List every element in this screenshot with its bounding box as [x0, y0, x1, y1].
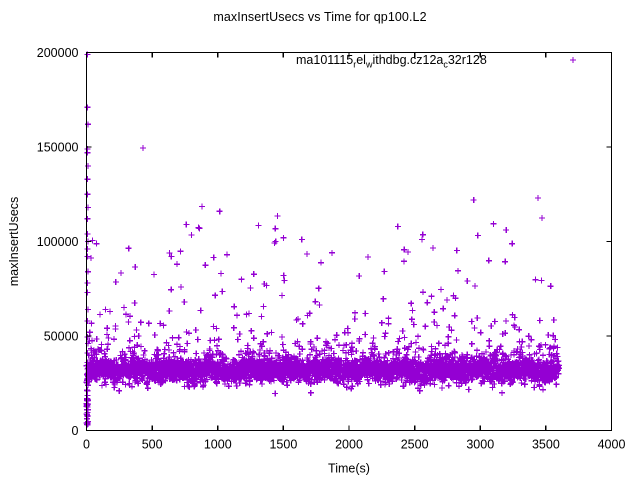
data-point [528, 337, 534, 343]
data-point [116, 388, 122, 394]
data-point [132, 264, 138, 270]
data-point [217, 208, 223, 214]
data-point [400, 328, 406, 334]
x-tick-label: 4000 [598, 438, 626, 452]
data-point [415, 333, 421, 339]
data-point [538, 277, 544, 283]
data-point [274, 213, 280, 219]
data-point [216, 336, 222, 342]
data-point [195, 225, 201, 231]
legend: ma101115relwithdbg.cz12ac32r128 [296, 53, 576, 70]
data-point [234, 383, 240, 389]
data-point [537, 318, 543, 324]
data-point [532, 277, 538, 283]
data-point [492, 319, 498, 325]
data-point [84, 290, 90, 296]
data-point [238, 276, 244, 282]
data-point [385, 315, 391, 321]
x-tick-label: 0 [83, 438, 90, 452]
data-point [272, 391, 278, 397]
data-point [502, 259, 508, 265]
data-point [474, 315, 480, 321]
data-point [416, 354, 422, 360]
data-point [434, 323, 440, 329]
data-point [396, 336, 402, 342]
data-point [526, 333, 532, 339]
data-point [126, 345, 132, 351]
data-point [379, 320, 385, 326]
data-point [431, 309, 437, 315]
x-axis-ticks: 05001000150020002500300035004000 [83, 53, 625, 452]
data-point [472, 325, 478, 331]
data-point [439, 385, 445, 391]
data-point [134, 327, 140, 333]
data-point [113, 279, 119, 285]
y-tick-label: 100000 [37, 235, 79, 249]
data-point [98, 341, 104, 347]
data-point [436, 340, 442, 346]
data-point [231, 325, 237, 331]
data-point [402, 345, 408, 351]
data-point [85, 246, 91, 252]
data-point [553, 381, 559, 387]
x-tick-label: 2000 [335, 438, 363, 452]
x-tick-label: 1500 [269, 438, 297, 452]
data-point [365, 254, 371, 260]
data-point [183, 221, 189, 227]
data-point [89, 237, 95, 243]
data-point [318, 260, 324, 266]
data-point [211, 254, 217, 260]
data-point [85, 307, 91, 313]
data-point [486, 338, 492, 344]
data-point [383, 330, 389, 336]
data-point [85, 280, 91, 286]
data-point [166, 308, 172, 314]
x-tick-label: 1000 [204, 438, 232, 452]
data-point [219, 289, 225, 295]
data-point [85, 269, 91, 275]
data-point [469, 319, 475, 325]
data-point [431, 319, 437, 325]
x-tick-label: 500 [142, 438, 163, 452]
y-tick-label: 50000 [44, 330, 79, 344]
data-point [235, 336, 241, 342]
data-point [548, 283, 554, 289]
data-point [385, 321, 391, 327]
data-point [142, 348, 148, 354]
data-point [329, 250, 335, 256]
data-point [284, 382, 290, 388]
x-tick-label: 3500 [532, 438, 560, 452]
data-point [431, 382, 437, 388]
data-point [445, 334, 451, 340]
data-point [316, 285, 322, 291]
data-point [486, 343, 492, 349]
data-point [314, 335, 320, 341]
data-point [469, 341, 475, 347]
data-point [196, 225, 202, 231]
data-point [317, 302, 323, 308]
data-point [272, 226, 278, 232]
data-point [251, 271, 257, 277]
data-point [118, 270, 124, 276]
x-axis-title: Time(s) [328, 462, 370, 476]
data-point [420, 289, 426, 295]
data-point [413, 339, 419, 345]
data-point [176, 335, 182, 341]
data-point [547, 345, 553, 351]
data-point [383, 351, 389, 357]
y-axis-title: maxInsertUsecs [7, 197, 21, 287]
data-point [540, 352, 546, 358]
data-point [174, 261, 180, 267]
data-point [336, 342, 342, 348]
data-point [299, 237, 305, 243]
data-point [503, 227, 509, 233]
data-point [371, 335, 377, 341]
data-point [224, 252, 230, 258]
data-point [344, 384, 350, 390]
data-point [503, 318, 509, 324]
data-point [195, 337, 201, 343]
data-point [444, 297, 450, 303]
data-point [539, 215, 545, 221]
data-point [395, 339, 401, 345]
data-point [85, 121, 91, 127]
data-point [545, 332, 551, 338]
data-point [455, 268, 461, 274]
data-point [237, 380, 243, 386]
data-point [151, 271, 157, 277]
x-tick-label: 3000 [466, 438, 494, 452]
data-point [438, 286, 444, 292]
data-point [308, 390, 314, 396]
data-point [471, 197, 477, 203]
data-point [113, 326, 119, 332]
chart-page: maxInsertUsecs vs Time for qp100.L2 0500… [0, 0, 640, 480]
data-point [381, 269, 387, 275]
data-point [145, 385, 151, 391]
data-point [231, 304, 237, 310]
data-point [85, 176, 91, 182]
y-tick-label: 150000 [37, 141, 79, 155]
data-point [475, 232, 481, 238]
data-point [146, 320, 152, 326]
data-point [178, 248, 184, 254]
data-point [554, 344, 560, 350]
data-point [84, 231, 90, 237]
data-point [84, 191, 90, 197]
data-point [260, 303, 266, 309]
data-point [412, 349, 418, 355]
data-point [189, 232, 195, 238]
data-point [248, 328, 254, 334]
data-point [356, 273, 362, 279]
data-point [121, 304, 127, 310]
data-point [380, 296, 386, 302]
data-point [401, 335, 407, 341]
data-point [362, 311, 368, 317]
data-point [454, 248, 460, 254]
data-point [446, 383, 452, 389]
data-point [466, 386, 472, 392]
data-point [440, 306, 446, 312]
data-point [105, 335, 111, 341]
data-point [366, 380, 372, 386]
data-point [405, 347, 411, 353]
data-point [526, 343, 532, 349]
data-point [382, 334, 388, 340]
data-point [218, 271, 224, 277]
data-point [498, 343, 504, 349]
data-point [570, 57, 576, 63]
data-point [280, 341, 286, 347]
data-point [193, 351, 199, 357]
data-point [193, 327, 199, 333]
plot-canvas: 0500100015002000250030003500400005000010… [0, 0, 640, 480]
data-point [170, 335, 176, 341]
data-point [199, 204, 205, 210]
data-point [84, 104, 90, 110]
data-point [360, 350, 366, 356]
data-point [454, 337, 460, 343]
data-point [535, 195, 541, 201]
data-point [273, 238, 279, 244]
data-point [429, 293, 435, 299]
data-point [312, 299, 318, 305]
data-point [452, 313, 458, 319]
data-point [168, 287, 174, 293]
data-point [419, 237, 425, 243]
data-point [300, 321, 306, 327]
data-point [352, 316, 358, 322]
data-point [271, 240, 277, 246]
data-point [152, 332, 158, 338]
data-point [138, 319, 144, 325]
data-point [430, 245, 436, 251]
data-point [85, 204, 91, 210]
data-point [202, 262, 208, 268]
data-point [198, 307, 204, 313]
data-point [140, 145, 146, 151]
data-point [245, 343, 251, 349]
data-point [490, 221, 496, 227]
data-point [279, 334, 285, 340]
data-point [132, 300, 138, 306]
data-point [126, 245, 132, 251]
data-point [207, 338, 213, 344]
data-point [111, 336, 117, 342]
data-point [126, 319, 132, 325]
data-point [349, 340, 355, 346]
data-point [474, 347, 480, 353]
data-point [420, 232, 426, 238]
data-point [424, 300, 430, 306]
data-point [472, 283, 478, 289]
data-point [99, 383, 105, 389]
data-point [84, 254, 90, 260]
legend-label: ma101115relwithdbg.cz12ac32r128 [296, 53, 487, 70]
y-tick-label: 200000 [37, 46, 79, 60]
data-point [280, 235, 286, 241]
data-point [422, 323, 428, 329]
data-point [138, 343, 144, 349]
data-points-group [84, 51, 562, 427]
data-point [362, 331, 368, 337]
data-point [237, 331, 243, 337]
data-point [352, 310, 358, 316]
data-point [304, 251, 310, 257]
data-point [540, 387, 546, 393]
data-point [85, 163, 91, 169]
data-point [184, 341, 190, 347]
data-point [85, 216, 91, 222]
data-point [381, 355, 387, 361]
data-point [255, 222, 261, 228]
data-point [131, 334, 137, 340]
data-point [212, 292, 218, 298]
data-point [499, 390, 505, 396]
y-tick-label: 0 [72, 424, 79, 438]
data-point [522, 381, 528, 387]
data-point [104, 331, 110, 337]
data-point [248, 285, 254, 291]
data-point [88, 255, 94, 261]
data-point [279, 292, 285, 298]
data-point [97, 311, 103, 317]
data-point [178, 284, 184, 290]
data-point [104, 325, 110, 331]
data-point [464, 278, 470, 284]
data-point [551, 317, 557, 323]
data-point [345, 330, 351, 336]
data-point [85, 388, 91, 394]
data-point [408, 300, 414, 306]
data-point [488, 323, 494, 329]
data-point [93, 241, 99, 247]
data-point [181, 299, 187, 305]
data-point [251, 335, 257, 341]
x-tick-label: 2500 [401, 438, 429, 452]
data-point [395, 224, 401, 230]
data-point [127, 338, 133, 344]
data-point [258, 314, 264, 320]
data-point [486, 258, 492, 264]
data-point [531, 384, 537, 390]
data-point [234, 312, 240, 318]
data-point [214, 343, 220, 349]
data-point [105, 341, 111, 347]
data-point [478, 330, 484, 336]
data-point [281, 273, 287, 279]
data-point [161, 351, 167, 357]
data-point [353, 348, 359, 354]
data-point [401, 258, 407, 264]
data-point [410, 307, 416, 313]
data-point [386, 350, 392, 356]
data-point [509, 241, 515, 247]
